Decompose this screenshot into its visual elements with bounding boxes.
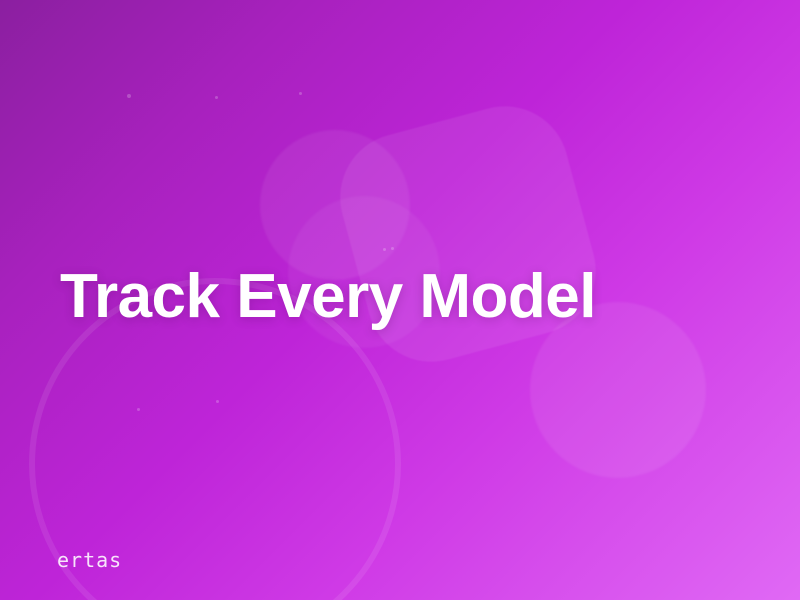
hero-banner: Track Every Model ertas [0,0,800,600]
hero-content: Track Every Model ertas [0,0,800,600]
brand-wordmark: ertas [57,550,122,570]
page-title: Track Every Model [60,266,596,328]
